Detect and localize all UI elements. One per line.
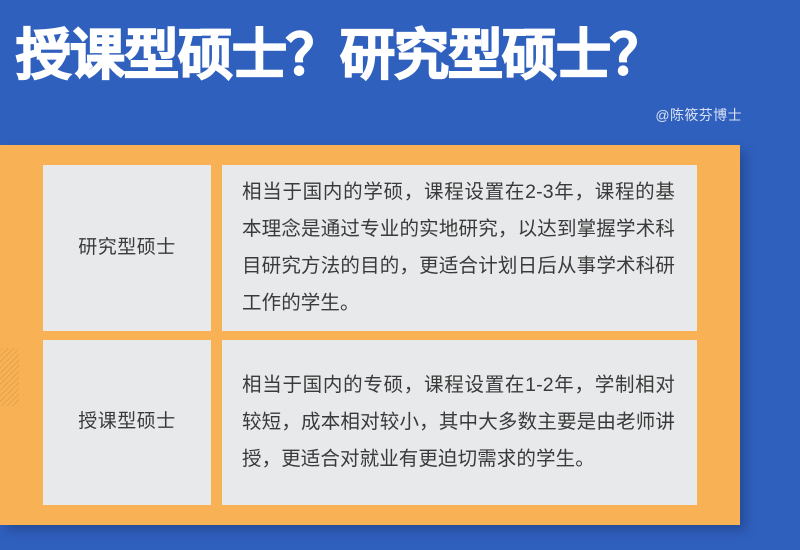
table-row-label-cell: 研究型硕士 [43,165,211,331]
poster-canvas: 授课型硕士？研究型硕士？ @陈筱芬博士 研究型硕士 相当于国内的学硕，课程设置在… [0,0,800,550]
table-row-label: 授课型硕士 [78,409,176,435]
content-panel: 研究型硕士 相当于国内的学硕，课程设置在2-3年，课程的基本理念是通过专业的实地… [0,145,740,525]
page-title: 授课型硕士？研究型硕士？ [16,24,784,86]
comparison-table: 研究型硕士 相当于国内的学硕，课程设置在2-3年，课程的基本理念是通过专业的实地… [43,165,697,505]
diagonal-hatch-decoration [0,348,19,406]
table-row-description-cell: 相当于国内的专硕，课程设置在1-2年，学制相对较短，成本相对较小，其中大多数主要… [222,340,697,506]
table-row-label-cell: 授课型硕士 [43,340,211,506]
table-row-description: 相当于国内的学硕，课程设置在2-3年，课程的基本理念是通过专业的实地研究，以达到… [242,174,675,322]
table-row-description-cell: 相当于国内的学硕，课程设置在2-3年，课程的基本理念是通过专业的实地研究，以达到… [222,165,697,331]
poster-header: 授课型硕士？研究型硕士？ @陈筱芬博士 [0,0,800,145]
table-row: 授课型硕士 相当于国内的专硕，课程设置在1-2年，学制相对较短，成本相对较小，其… [43,340,697,506]
author-watermark: @陈筱芬博士 [655,106,742,124]
table-row-label: 研究型硕士 [78,235,176,261]
table-row-description: 相当于国内的专硕，课程设置在1-2年，学制相对较短，成本相对较小，其中大多数主要… [242,367,675,478]
table-row: 研究型硕士 相当于国内的学硕，课程设置在2-3年，课程的基本理念是通过专业的实地… [43,165,697,331]
